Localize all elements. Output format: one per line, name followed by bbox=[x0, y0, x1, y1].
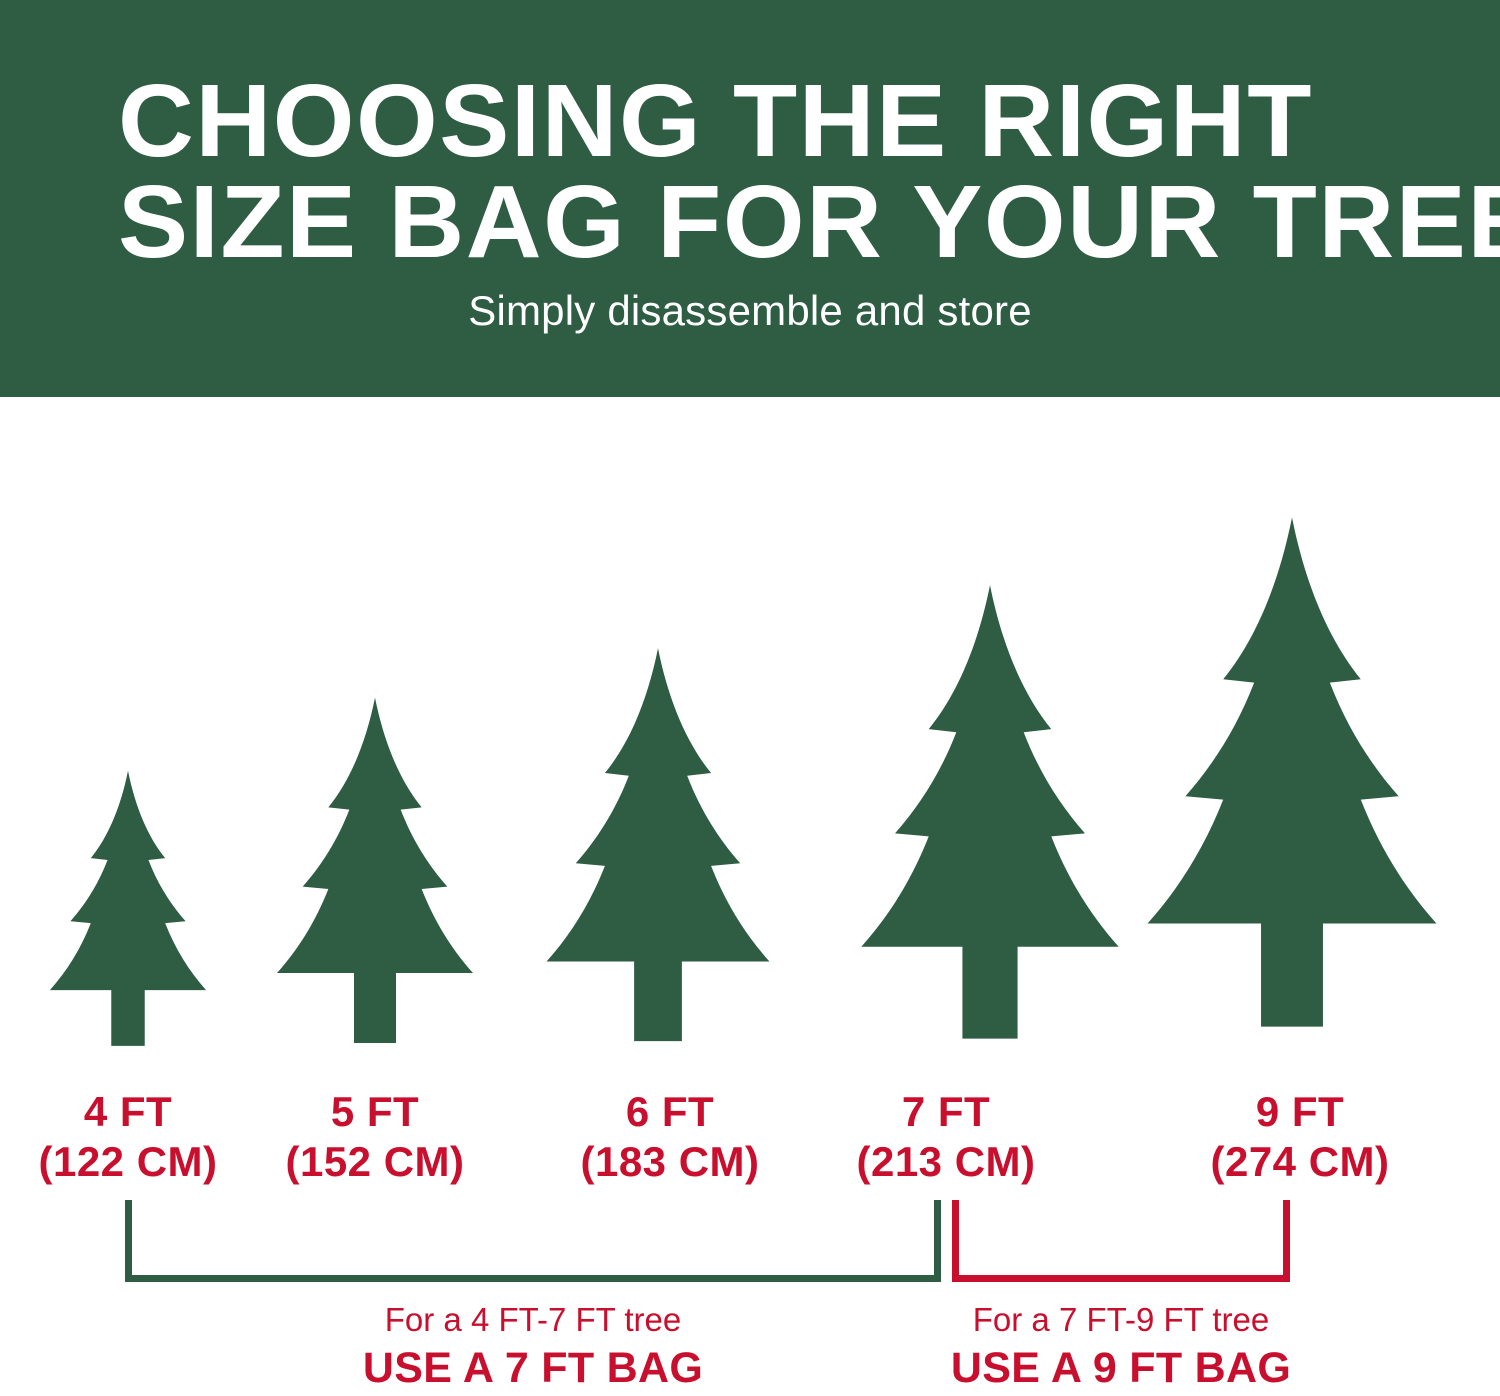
size-label-9ft: 9 FT (274 CM) bbox=[1172, 1087, 1428, 1187]
size-label-5ft: 5 FT (152 CM) bbox=[247, 1087, 503, 1187]
bracket-7ft-bag-range bbox=[125, 1200, 941, 1282]
size-label-5ft-cm: (152 CM) bbox=[247, 1137, 503, 1187]
page-title: CHOOSING THE RIGHT SIZE BAG FOR YOUR TRE… bbox=[118, 70, 1434, 272]
tree-9ft bbox=[1120, 501, 1464, 1057]
tree-5ft bbox=[255, 693, 495, 1057]
size-label-6ft-feet: 6 FT bbox=[542, 1087, 798, 1137]
size-label-7ft: 7 FT (213 CM) bbox=[818, 1087, 1074, 1187]
size-label-6ft: 6 FT (183 CM) bbox=[542, 1087, 798, 1187]
size-label-9ft-feet: 9 FT bbox=[1172, 1087, 1428, 1137]
size-label-7ft-cm: (213 CM) bbox=[818, 1137, 1074, 1187]
size-label-4ft-feet: 4 FT bbox=[0, 1087, 256, 1137]
tree-6ft bbox=[512, 643, 804, 1057]
size-label-4ft-cm: (122 CM) bbox=[0, 1137, 256, 1187]
size-label-9ft-cm: (274 CM) bbox=[1172, 1137, 1428, 1187]
tree-4ft bbox=[35, 767, 221, 1057]
recommendation-9ft-bag-text: USE A 9 FT BAG bbox=[891, 1342, 1351, 1394]
recommendation-7ft-range: For a 4 FT-7 FT tree bbox=[303, 1298, 763, 1342]
tree-size-comparison bbox=[0, 397, 1500, 1057]
header-band: CHOOSING THE RIGHT SIZE BAG FOR YOUR TRE… bbox=[0, 0, 1500, 397]
page-subtitle: Simply disassemble and store bbox=[0, 286, 1500, 336]
infographic-page: CHOOSING THE RIGHT SIZE BAG FOR YOUR TRE… bbox=[0, 0, 1500, 1396]
recommendation-9ft-range: For a 7 FT-9 FT tree bbox=[891, 1298, 1351, 1342]
page-title-line-2: SIZE BAG FOR YOUR TREE bbox=[118, 171, 1434, 272]
size-label-4ft: 4 FT (122 CM) bbox=[0, 1087, 256, 1187]
size-label-5ft-feet: 5 FT bbox=[247, 1087, 503, 1137]
recommendation-7ft-bag-text: USE A 7 FT BAG bbox=[303, 1342, 763, 1394]
page-title-line-1: CHOOSING THE RIGHT bbox=[118, 70, 1434, 171]
tree-7ft bbox=[822, 579, 1158, 1057]
recommendation-7ft-bag: For a 4 FT-7 FT tree USE A 7 FT BAG bbox=[303, 1298, 763, 1394]
recommendation-9ft-bag: For a 7 FT-9 FT tree USE A 9 FT BAG bbox=[891, 1298, 1351, 1394]
size-label-6ft-cm: (183 CM) bbox=[542, 1137, 798, 1187]
bracket-9ft-bag-range bbox=[952, 1200, 1290, 1282]
size-label-7ft-feet: 7 FT bbox=[818, 1087, 1074, 1137]
